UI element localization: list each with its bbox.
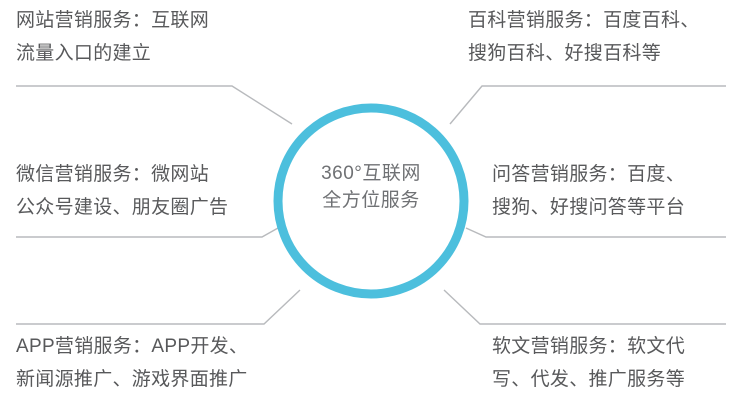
node-qa: 问答营销服务：百度、 搜狗、好搜问答等平台 — [492, 158, 685, 224]
connector-baike — [450, 86, 726, 124]
node-qa-line1: 问答营销服务：百度、 — [492, 158, 685, 191]
connector-qa — [466, 228, 726, 237]
node-app-line1: APP营销服务：APP开发、 — [16, 330, 248, 363]
connector-app — [16, 290, 300, 324]
node-baike-line1: 百科营销服务：百度百科、 — [468, 4, 700, 37]
node-wechat: 微信营销服务：微网站 公众号建设、朋友圈广告 — [16, 158, 228, 224]
connector-wechat — [16, 228, 278, 237]
node-website-line2: 流量入口的建立 — [16, 37, 209, 70]
node-website-line1: 网站营销服务：互联网 — [16, 4, 209, 37]
connector-ruanwen — [444, 290, 726, 324]
node-ruanwen: 软文营销服务：软文代 写、代发、推广服务等 — [492, 330, 685, 396]
node-app: APP营销服务：APP开发、 新闻源推广、游戏界面推广 — [16, 330, 248, 396]
connector-website — [16, 86, 292, 124]
center-label-line2: 全方位服务 — [281, 187, 461, 214]
node-website: 网站营销服务：互联网 流量入口的建立 — [16, 4, 209, 70]
node-wechat-line1: 微信营销服务：微网站 — [16, 158, 228, 191]
node-ruanwen-line2: 写、代发、推广服务等 — [492, 363, 685, 396]
node-qa-line2: 搜狗、好搜问答等平台 — [492, 191, 685, 224]
node-ruanwen-line1: 软文营销服务：软文代 — [492, 330, 685, 363]
center-label: 360°互联网 全方位服务 — [281, 160, 461, 214]
center-label-line1: 360°互联网 — [281, 160, 461, 187]
node-baike: 百科营销服务：百度百科、 搜狗百科、好搜百科等 — [468, 4, 700, 70]
node-baike-line2: 搜狗百科、好搜百科等 — [468, 37, 700, 70]
node-app-line2: 新闻源推广、游戏界面推广 — [16, 363, 248, 396]
node-wechat-line2: 公众号建设、朋友圈广告 — [16, 191, 228, 224]
infographic-diagram: 360°互联网 全方位服务 网站营销服务：互联网 流量入口的建立 微信营销服务：… — [0, 0, 742, 420]
